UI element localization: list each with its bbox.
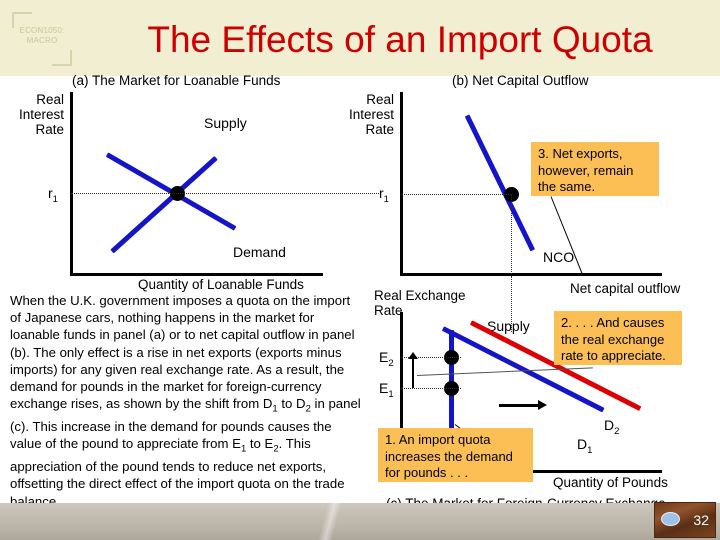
exchange-rate-increase-arrow [412,358,414,388]
panel-a-r1-label: r1 [48,186,58,207]
logo-line-1: ECON1050: [8,26,76,36]
panel-b-equilibrium-dotted-drop [511,194,512,274]
panel-a-caption: (a) The Market for Loanable Funds [72,73,280,88]
panel-b-nco-curve [465,114,535,251]
paragraph-part-4: to E [246,436,273,451]
panel-c-e2-label: E2 [379,350,394,371]
panel-c-demand1-label: D1 [577,437,592,458]
callout-1: 1. An import quota increases the demand … [378,428,533,482]
panel-a-y-axis [70,92,73,276]
panel-b-caption: (b) Net Capital Outflow [452,73,589,88]
explanatory-paragraph: When the U.K. government imposes a quota… [10,292,362,510]
panel-a-supply-label: Supply [204,116,247,131]
logo-text: ECON1050: MACRO [8,26,76,46]
paragraph-part-2: to D [278,396,306,411]
panel-a-y-axis-label: RealInterestRate [0,92,64,137]
logo-bracket-bottom-right [52,50,72,66]
panel-c-e1-label: E1 [379,381,394,402]
panel-a-x-axis-label: Quantity of Loanable Funds [138,277,304,292]
panel-a-supply-curve [110,156,217,253]
panel-c-e1-dotted-line [401,388,461,389]
panel-b-y-axis-label: RealInterestRate [330,92,394,137]
panel-c-demand2-label: D2 [604,418,619,439]
callout-3: 3. Net exports, however, remain the same… [531,142,659,196]
slide: ECON1050: MACRO The Effects of an Import… [0,0,720,540]
footer-texture-seam [300,503,360,540]
bullet-icon [661,512,680,526]
panel-b-x-axis-label: Net capital outflow [570,281,680,296]
slide-number-badge: 32 [654,502,716,538]
slide-number: 32 [693,513,709,527]
panel-a-demand-label: Demand [233,245,286,260]
panel-b-x-axis [400,273,662,276]
r1-dotted-line-panel-a [71,193,381,194]
panel-b-r1-label: r1 [379,186,389,207]
course-logo: ECON1050: MACRO [8,8,76,70]
panel-a-x-axis [70,273,323,276]
page-title: The Effects of an Import Quota [90,12,710,68]
logo-line-2: MACRO [8,36,76,46]
panel-c-y-axis-label: Real ExchangeRate [374,288,466,318]
panel-b-nco-label: NCO [543,250,574,265]
demand-shift-arrow [499,404,539,407]
paragraph-part-1: When the U.K. government imposes a quota… [10,293,355,411]
panel-b-r1-dotted-line [401,194,509,195]
panel-b-y-axis [400,92,403,276]
callout-2: 2. . . . And causes the real exchange ra… [554,311,682,365]
footer-band [0,503,720,540]
panel-c-x-axis-label: Quantity of Pounds [553,475,668,490]
